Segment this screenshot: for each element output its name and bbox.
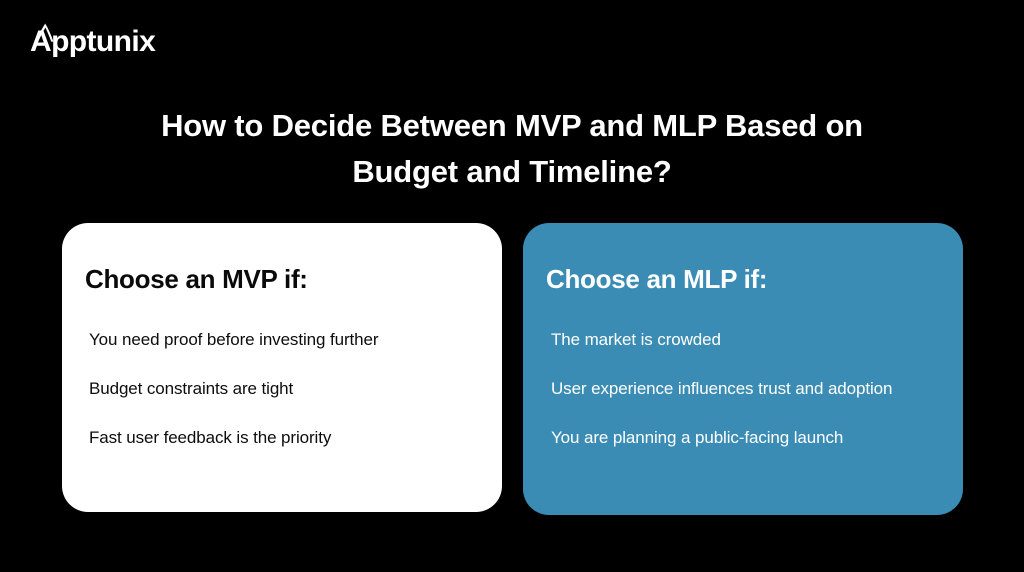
- list-item: You are planning a public-facing launch: [551, 427, 963, 449]
- list-item: Fast user feedback is the priority: [89, 427, 502, 449]
- card-mvp-heading: Choose an MVP if:: [85, 263, 502, 295]
- list-item: You need proof before investing further: [89, 329, 502, 351]
- card-mvp-list: You need proof before investing further …: [85, 329, 502, 449]
- brand-name: Apptunix: [30, 20, 155, 64]
- list-item: The market is crowded: [551, 329, 963, 351]
- card-mlp: Choose an MLP if: The market is crowded …: [523, 223, 963, 515]
- list-item: User experience influences trust and ado…: [551, 378, 963, 400]
- page-title-line-2: Budget and Timeline?: [0, 149, 1024, 195]
- card-mlp-heading: Choose an MLP if:: [546, 263, 963, 295]
- slide-canvas: Apptunix How to Decide Between MVP and M…: [0, 0, 1024, 572]
- brand-logo: Apptunix: [30, 22, 155, 64]
- card-mlp-list: The market is crowded User experience in…: [546, 329, 963, 449]
- page-title: How to Decide Between MVP and MLP Based …: [0, 103, 1024, 195]
- page-title-line-1: How to Decide Between MVP and MLP Based …: [0, 103, 1024, 149]
- list-item: Budget constraints are tight: [89, 378, 502, 400]
- card-mvp: Choose an MVP if: You need proof before …: [62, 223, 502, 512]
